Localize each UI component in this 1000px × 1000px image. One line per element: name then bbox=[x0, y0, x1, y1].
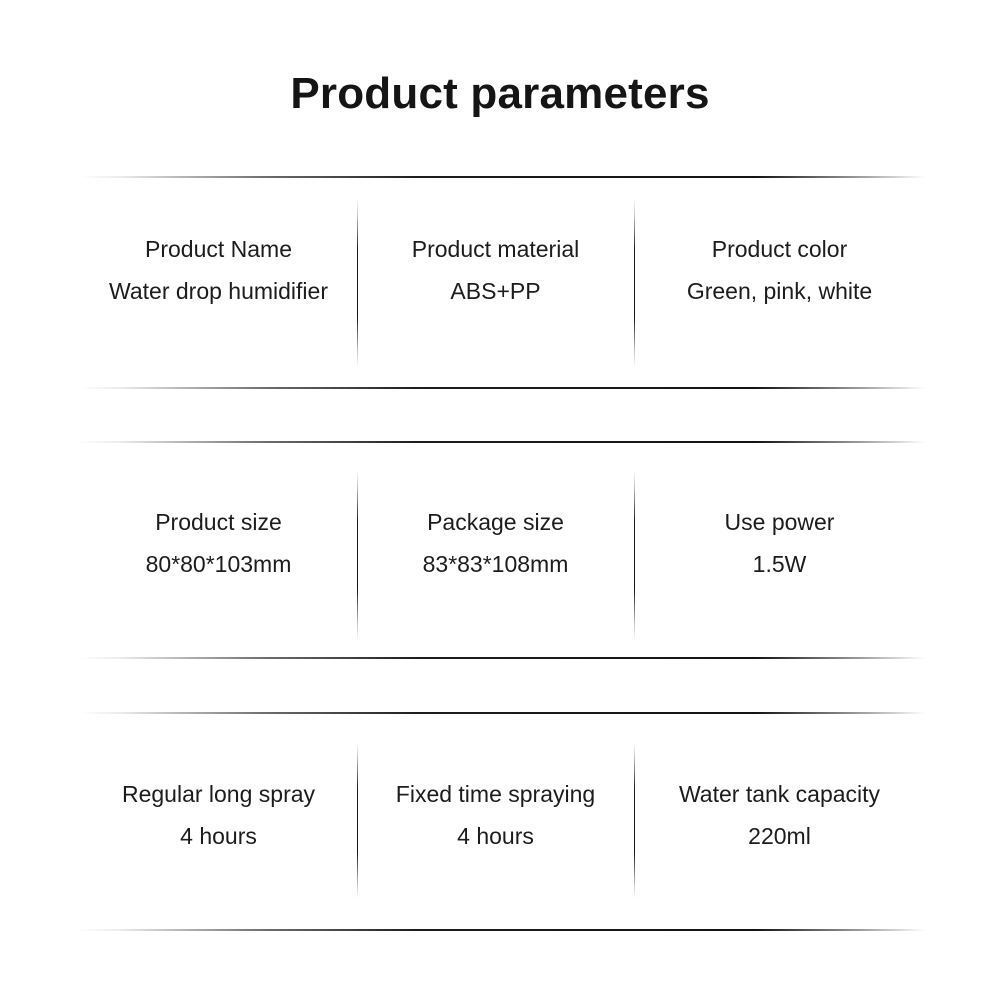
spec-label: Product color bbox=[634, 232, 925, 266]
spec-value: 1.5W bbox=[634, 547, 925, 581]
spec-value: ABS+PP bbox=[357, 274, 634, 308]
product-parameters-page: Product parameters Product Name Water dr… bbox=[0, 0, 1000, 1000]
table-rule-row3-top bbox=[80, 712, 925, 714]
spec-value: 220ml bbox=[634, 819, 925, 853]
table-rule-bottom bbox=[80, 929, 925, 931]
spec-cell-package-size: Package size 83*83*108mm bbox=[357, 505, 634, 581]
spec-value: 80*80*103mm bbox=[80, 547, 357, 581]
spec-label: Regular long spray bbox=[80, 777, 357, 811]
table-row: Product size 80*80*103mm Package size 83… bbox=[80, 505, 925, 581]
table-rule-row1-bottom bbox=[80, 387, 925, 389]
spec-value: Green, pink, white bbox=[634, 274, 925, 308]
spec-cell-product-name: Product Name Water drop humidifier bbox=[80, 232, 357, 308]
spec-cell-product-size: Product size 80*80*103mm bbox=[80, 505, 357, 581]
spec-value: 4 hours bbox=[357, 819, 634, 853]
spec-label: Package size bbox=[357, 505, 634, 539]
spec-value: 83*83*108mm bbox=[357, 547, 634, 581]
table-row: Product Name Water drop humidifier Produ… bbox=[80, 232, 925, 308]
spec-label: Product Name bbox=[80, 232, 357, 266]
spec-label: Use power bbox=[634, 505, 925, 539]
spec-label: Product material bbox=[357, 232, 634, 266]
specifications-table: Product Name Water drop humidifier Produ… bbox=[0, 0, 1000, 1000]
spec-cell-water-tank-capacity: Water tank capacity 220ml bbox=[634, 777, 925, 853]
spec-value: 4 hours bbox=[80, 819, 357, 853]
table-rule-row2-top bbox=[80, 441, 925, 443]
spec-label: Water tank capacity bbox=[634, 777, 925, 811]
spec-cell-product-material: Product material ABS+PP bbox=[357, 232, 634, 308]
spec-cell-regular-long-spray: Regular long spray 4 hours bbox=[80, 777, 357, 853]
spec-label: Product size bbox=[80, 505, 357, 539]
table-rule-row2-bottom bbox=[80, 657, 925, 659]
spec-cell-fixed-time-spraying: Fixed time spraying 4 hours bbox=[357, 777, 634, 853]
table-rule-top bbox=[80, 176, 925, 178]
table-row: Regular long spray 4 hours Fixed time sp… bbox=[80, 777, 925, 853]
spec-cell-use-power: Use power 1.5W bbox=[634, 505, 925, 581]
spec-cell-product-color: Product color Green, pink, white bbox=[634, 232, 925, 308]
spec-value: Water drop humidifier bbox=[80, 274, 357, 308]
spec-label: Fixed time spraying bbox=[357, 777, 634, 811]
